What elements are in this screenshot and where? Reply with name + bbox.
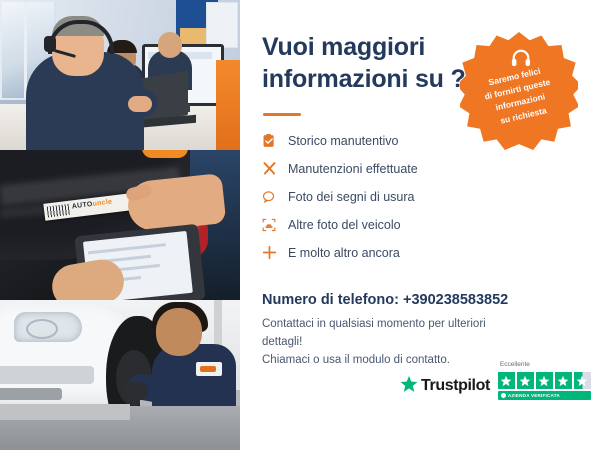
car-lower-grille <box>0 388 62 400</box>
vehicle-sticker-inspection-photo: AUTOuncle <box>0 150 240 300</box>
content-panel: Vuoi maggiori informazioni su ? Saremo f… <box>240 0 600 450</box>
list-item[interactable]: Storico manutentivo <box>262 128 492 153</box>
title-divider <box>263 113 301 116</box>
wall-poster-secondary <box>206 2 238 48</box>
headset-icon <box>510 48 532 68</box>
photo-column: AUTOuncle <box>0 0 240 450</box>
clipboard-check-icon <box>262 134 288 148</box>
headline-line-2: informazioni su ? <box>262 65 466 93</box>
trustpilot-verified-badge: AZIENDA VERIFICATA <box>498 391 591 400</box>
list-item-label: Storico manutentivo <box>288 134 398 148</box>
list-item-label: Foto dei segni di usura <box>288 190 414 204</box>
headline-line-1: Vuoi maggiori <box>262 33 425 61</box>
star-filled <box>555 372 572 389</box>
star-half <box>574 372 591 389</box>
trustpilot-stars <box>498 372 591 389</box>
verified-label: AZIENDA VERIFICATA <box>508 393 560 398</box>
mechanic-glove <box>122 382 148 400</box>
trustpilot-rating-label: Eccellente <box>500 361 530 368</box>
feature-list: Storico manutentivo Manutenzioni effettu… <box>262 128 492 268</box>
list-item-label: Altre foto del veicolo <box>288 218 401 232</box>
trustpilot-widget[interactable]: Trustpilot Eccellente <box>400 372 591 400</box>
car-grille <box>0 366 94 384</box>
sticker-text: AUTOuncle <box>71 199 112 211</box>
verified-check-icon <box>501 393 506 398</box>
trustpilot-brand-label: Trustpilot <box>421 377 490 395</box>
star-filled <box>536 372 553 389</box>
list-item[interactable]: E molto altro ancora <box>262 240 492 265</box>
list-item-label: E molto altro ancora <box>288 246 400 260</box>
background-colleague-two-head <box>158 32 182 58</box>
car-frame-photo-icon <box>262 218 288 232</box>
phone-number[interactable]: +390238583852 <box>403 292 508 308</box>
page-title: Vuoi maggiori informazioni su ? <box>262 32 482 95</box>
sticker-barcode <box>47 204 70 218</box>
star-filled <box>498 372 515 389</box>
contact-text-line-1: Contattaci in qualsiasi momento per ulte… <box>262 316 522 352</box>
promo-panel: AUTOuncle <box>0 0 600 450</box>
contact-text: Contattaci in qualsiasi momento per ulte… <box>262 316 522 369</box>
phone-line[interactable]: Numero di telefono: +390238583852 <box>262 292 508 308</box>
call-center-agent-photo <box>0 0 240 150</box>
trustpilot-logo: Trustpilot <box>400 375 490 398</box>
orange-signage-strip <box>216 60 240 150</box>
plus-icon <box>262 245 288 260</box>
contact-text-line-2: Chiamaci o usa il modulo di contatto. <box>262 352 522 370</box>
lift-pad <box>0 404 130 420</box>
list-item[interactable]: Manutenzioni effettuate <box>262 156 492 181</box>
trustpilot-rating: Eccellente <box>498 372 591 400</box>
car-headlight <box>14 312 82 342</box>
list-item[interactable]: Altre foto del veicolo <box>262 212 492 237</box>
star-filled <box>517 372 534 389</box>
uniform-logo-patch <box>196 362 222 376</box>
mechanic-wheel-service-photo <box>0 300 240 450</box>
list-item-label: Manutenzioni effettuate <box>288 162 418 176</box>
search-bubble-icon <box>262 190 288 204</box>
trustpilot-star-icon <box>400 375 418 398</box>
mechanic-head <box>156 308 202 356</box>
orange-accent-top <box>142 150 188 158</box>
tools-cross-icon <box>262 161 288 176</box>
list-item[interactable]: Foto dei segni di usura <box>262 184 492 209</box>
phone-label: Numero di telefono: <box>262 292 399 308</box>
agent-hand <box>128 96 152 112</box>
